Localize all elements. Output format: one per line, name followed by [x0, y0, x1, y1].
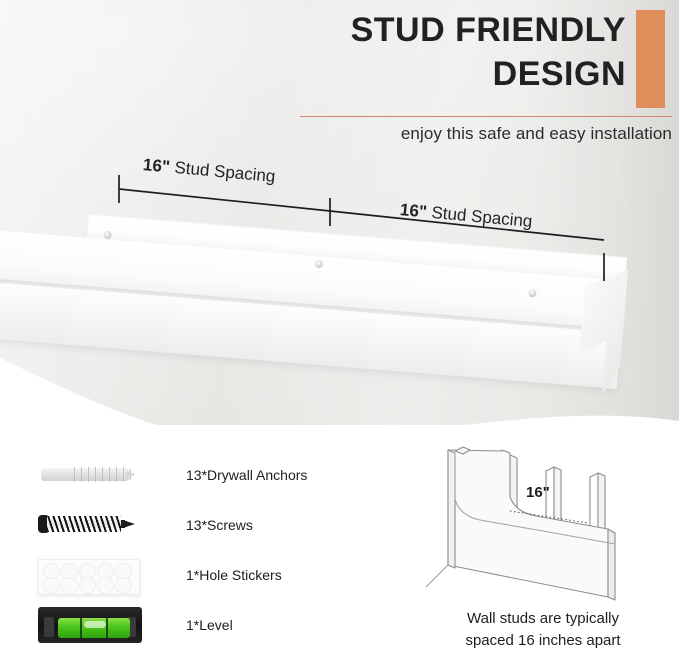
list-item: 1*Level [30, 600, 370, 650]
subtitle: enjoy this safe and easy installation [300, 124, 672, 144]
accent-bar [636, 10, 665, 108]
stud-dimension-label: 16" [526, 484, 550, 501]
title-line-1: STUD FRIENDLY [300, 8, 672, 52]
list-item: 1*Hole Stickers [30, 550, 370, 600]
accessory-list: 13*Drywall Anchors 13*Screws [30, 450, 370, 650]
title-line-2: DESIGN [300, 52, 672, 96]
accessory-label: 1*Level [150, 617, 233, 633]
bottom-section: 13*Drywall Anchors 13*Screws [0, 425, 679, 667]
screw-icon [30, 503, 150, 547]
drywall-anchor-icon [30, 453, 150, 497]
stud-diagram-caption: Wall studs are typically spaced 16 inche… [418, 608, 668, 652]
wall-scene: 16" Stud Spacing 16" Stud Spacing STUD F… [0, 0, 679, 430]
header-divider-rule [300, 116, 672, 117]
caption-line-1: Wall studs are typically [418, 608, 668, 630]
accessory-label: 13*Drywall Anchors [150, 467, 307, 483]
level-icon [30, 603, 150, 647]
accessory-label: 13*Screws [150, 517, 253, 533]
list-item: 13*Screws [30, 500, 370, 550]
caption-line-2: spaced 16 inches apart [418, 630, 668, 652]
hole-stickers-icon [30, 553, 150, 597]
stud-wall-diagram: 16" [418, 437, 668, 602]
product-infographic: 16" Stud Spacing 16" Stud Spacing STUD F… [0, 0, 679, 667]
header-title: STUD FRIENDLY DESIGN [300, 8, 672, 96]
list-item: 13*Drywall Anchors [30, 450, 370, 500]
accessory-label: 1*Hole Stickers [150, 567, 282, 583]
